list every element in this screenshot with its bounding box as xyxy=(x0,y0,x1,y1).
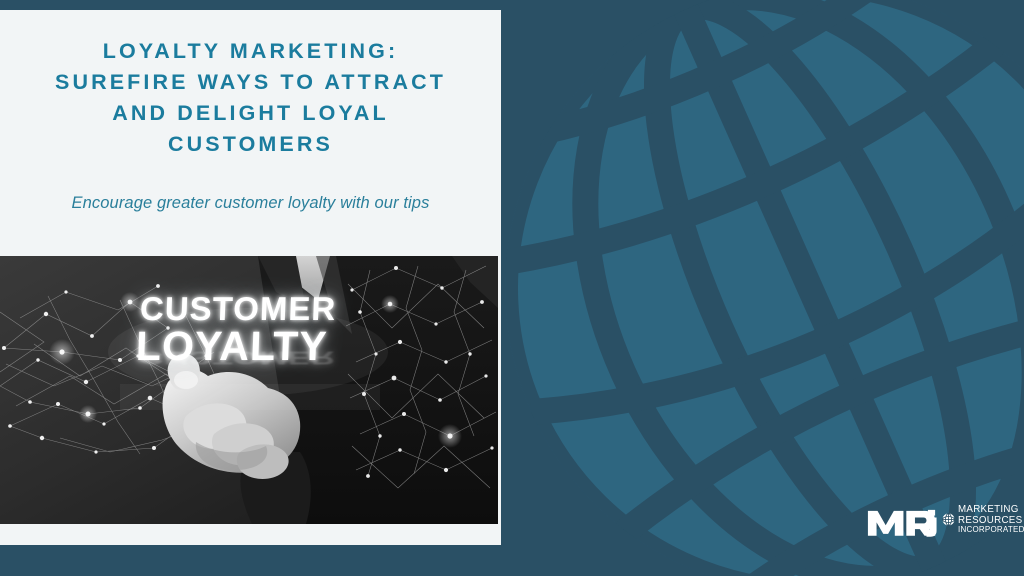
slide-canvas: LOYALTY MARKETING: SUREFIRE WAYS TO ATTR… xyxy=(0,0,1024,576)
logo-globe-icon xyxy=(942,513,955,526)
card-text-block: LOYALTY MARKETING: SUREFIRE WAYS TO ATTR… xyxy=(0,10,501,256)
page-subtitle: Encourage greater customer loyalty with … xyxy=(18,160,483,213)
logo-wordmark-lines: MARKETING RESOURCES INCORPORATED xyxy=(958,504,1024,534)
hero-photo: CUSTOMER CUSTOMER LOYALTY xyxy=(0,256,498,524)
logo-line-incorporated: INCORPORATED xyxy=(958,525,1024,534)
mri-wordmark-icon xyxy=(866,500,938,538)
photo-artwork xyxy=(0,256,498,524)
content-card: LOYALTY MARKETING: SUREFIRE WAYS TO ATTR… xyxy=(0,10,501,545)
mri-logo: MARKETING RESOURCES INCORPORATED xyxy=(866,497,1012,541)
page-title: LOYALTY MARKETING: SUREFIRE WAYS TO ATTR… xyxy=(18,36,483,160)
